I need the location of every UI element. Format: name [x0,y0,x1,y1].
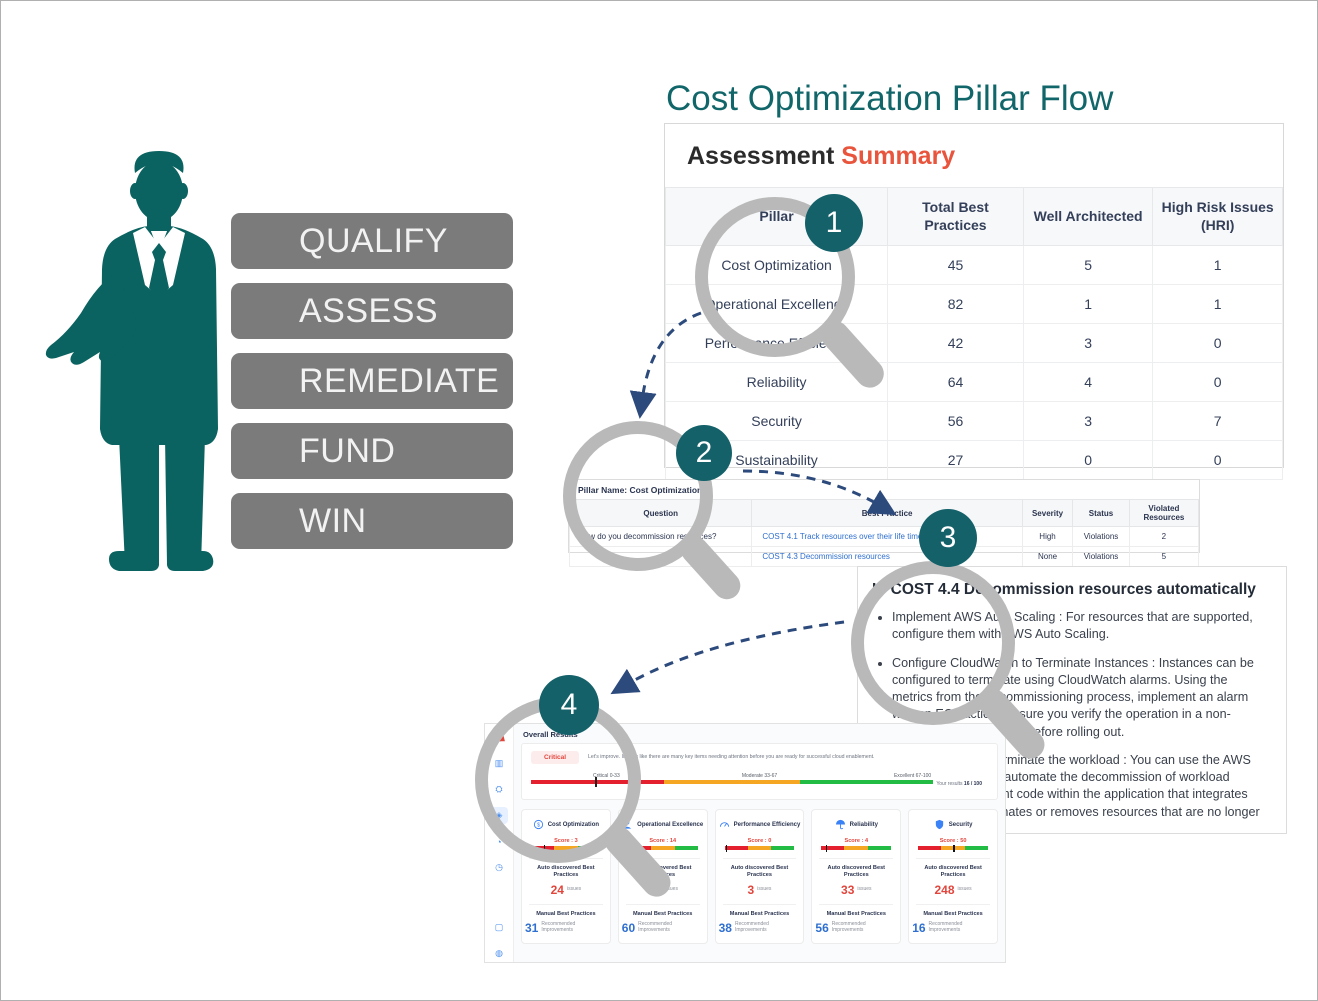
slide-canvas: QUALIFY ASSESS REMEDIATE FUND WIN [0,0,1318,1001]
callout-badge-4: 4 [539,675,599,735]
arrow-1-to-2 [642,313,701,401]
callout-badge-1: 1 [805,194,863,252]
arrow-2-to-3 [743,471,881,506]
callout-badge-2: 2 [676,425,732,481]
callout-badge-3: 3 [919,509,977,567]
arrow-3-to-4 [626,622,844,685]
